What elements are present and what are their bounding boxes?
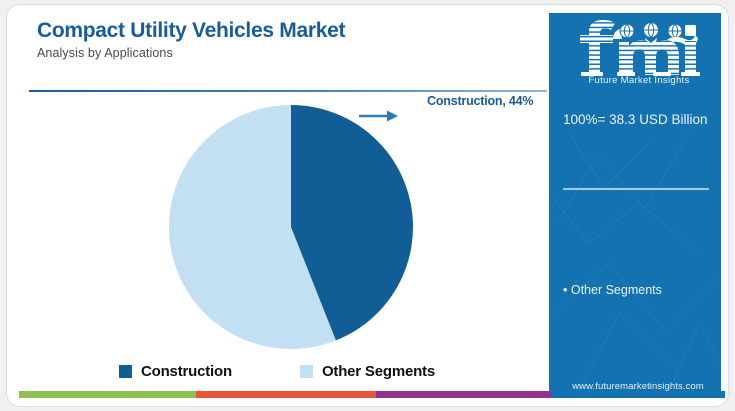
bar-segment-orange [196,391,376,398]
fmi-logo-svg [567,19,709,81]
bar-segment-blue [552,391,725,398]
pie-chart-svg [169,105,413,349]
sidebar-bullet-other-segments: • Other Segments [563,283,662,297]
pie-chart [169,105,413,349]
bar-segment-green [19,391,196,398]
legend-item-other-segments[interactable]: Other Segments [300,363,435,380]
callout-arrow [359,109,399,123]
bar-segment-purple [376,391,553,398]
callout-label: Construction, 44% [427,94,533,108]
legend-square-icon [300,365,313,378]
legend: Construction Other Segments [119,363,435,380]
chart-area: Construction, 44% Construction Other Seg… [7,5,555,407]
chart-card: Compact Utility Vehicles Market Analysis… [6,4,729,407]
arrow-right-icon [359,109,399,123]
sidebar-panel: Future Market Insights 100%= 38.3 USD Bi… [549,13,721,392]
sidebar-divider [563,188,709,190]
fmi-logo-icon [567,19,709,81]
bottom-color-bar [19,391,725,398]
sidebar-total-value: 100%= 38.3 USD Billion [563,109,713,131]
legend-item-construction[interactable]: Construction [119,363,232,380]
legend-label: Other Segments [322,363,435,380]
logo-tagline: Future Market Insights [569,75,709,86]
legend-square-icon [119,365,132,378]
legend-label: Construction [141,363,232,380]
